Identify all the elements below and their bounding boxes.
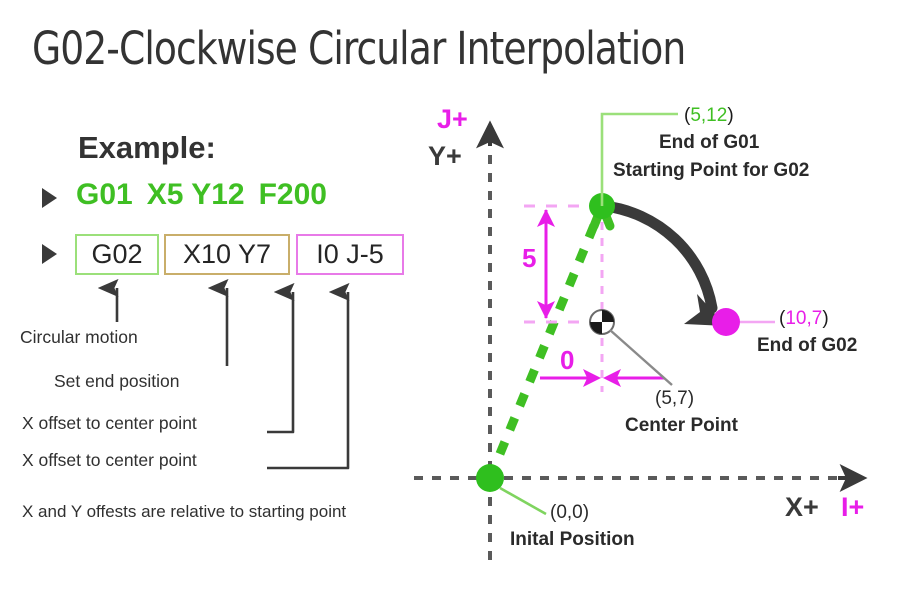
g02-arc-path [604, 206, 726, 326]
point-initial [476, 464, 504, 492]
diagram-page: G02-Clockwise Circular Interpolation Exa… [0, 0, 900, 600]
leader-start-point [602, 114, 678, 206]
callout-arrow-xoffset2 [267, 292, 348, 468]
point-end [712, 308, 740, 336]
g01-linear-path [490, 206, 610, 478]
leader-initial-point [500, 488, 546, 514]
diagram-graphics [0, 0, 900, 600]
callout-arrow-xoffset1 [267, 292, 293, 432]
